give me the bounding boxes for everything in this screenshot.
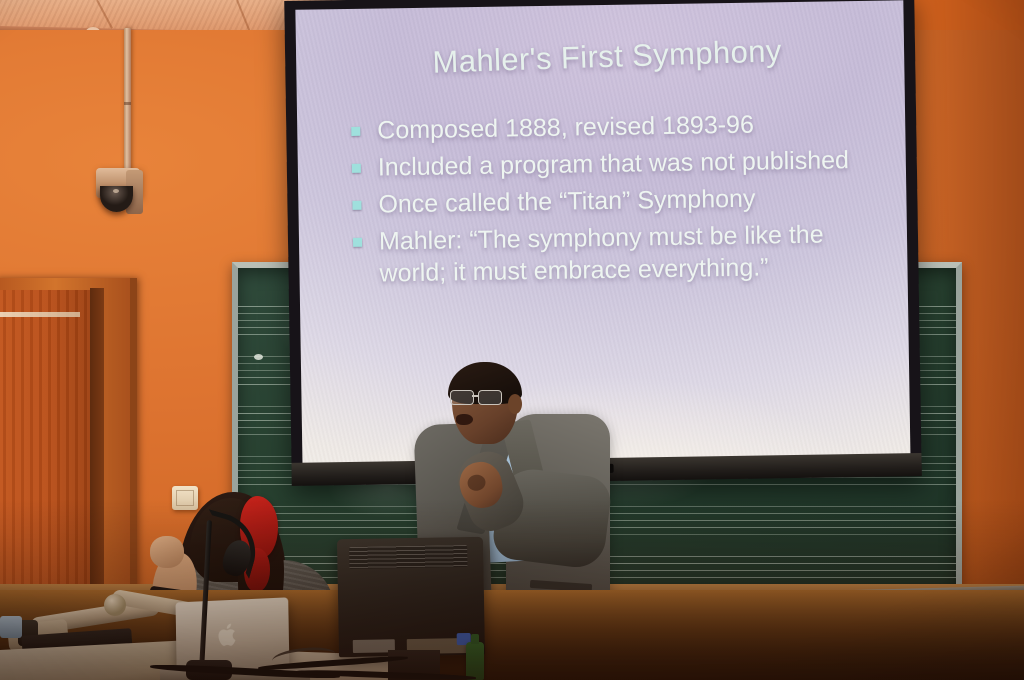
chalk-piece[interactable]: [254, 354, 263, 360]
slide-title: Mahler's First Symphony: [350, 30, 865, 83]
slide-bullet-text: Once called the “Titan” Symphony: [378, 185, 755, 219]
slide-bullet-text: Included a program that was not publishe…: [378, 146, 850, 181]
presentation-slide: Mahler's First Symphony Composed 1888, r…: [295, 0, 910, 463]
screen-surface: Mahler's First Symphony Composed 1888, r…: [295, 0, 910, 463]
slide-bullet: Mahler: “The symphony must be like the w…: [353, 218, 868, 290]
door-header-highlight: [0, 312, 80, 317]
lecturer-ear: [508, 394, 522, 414]
camera-mount-pole: [124, 28, 131, 178]
bullet-marker-icon: [351, 127, 360, 136]
slide-bullet: Included a program that was not publishe…: [352, 144, 866, 184]
projection-screen: Mahler's First Symphony Composed 1888, r…: [284, 0, 922, 486]
lecture-hall-photo: Mahler's First Symphony Composed 1888, r…: [0, 0, 1024, 680]
eyeglasses-icon: [450, 390, 506, 403]
slide-bullet: Composed 1888, revised 1893-96: [351, 107, 865, 147]
bullet-marker-icon: [352, 164, 361, 173]
slide-bullet-list: Composed 1888, revised 1893-96Included a…: [351, 107, 868, 290]
slide-bullet: Once called the “Titan” Symphony: [352, 181, 866, 221]
lecturer-mouth: [456, 414, 473, 425]
foreground-shadow: [0, 500, 1024, 680]
slide-bullet-text: Composed 1888, revised 1893-96: [377, 111, 754, 145]
bullet-marker-icon: [353, 238, 362, 247]
slide-bullet-text: Mahler: “The symphony must be like the w…: [379, 221, 824, 288]
bullet-marker-icon: [352, 201, 361, 210]
ceiling-tile-seam: [96, 0, 113, 29]
